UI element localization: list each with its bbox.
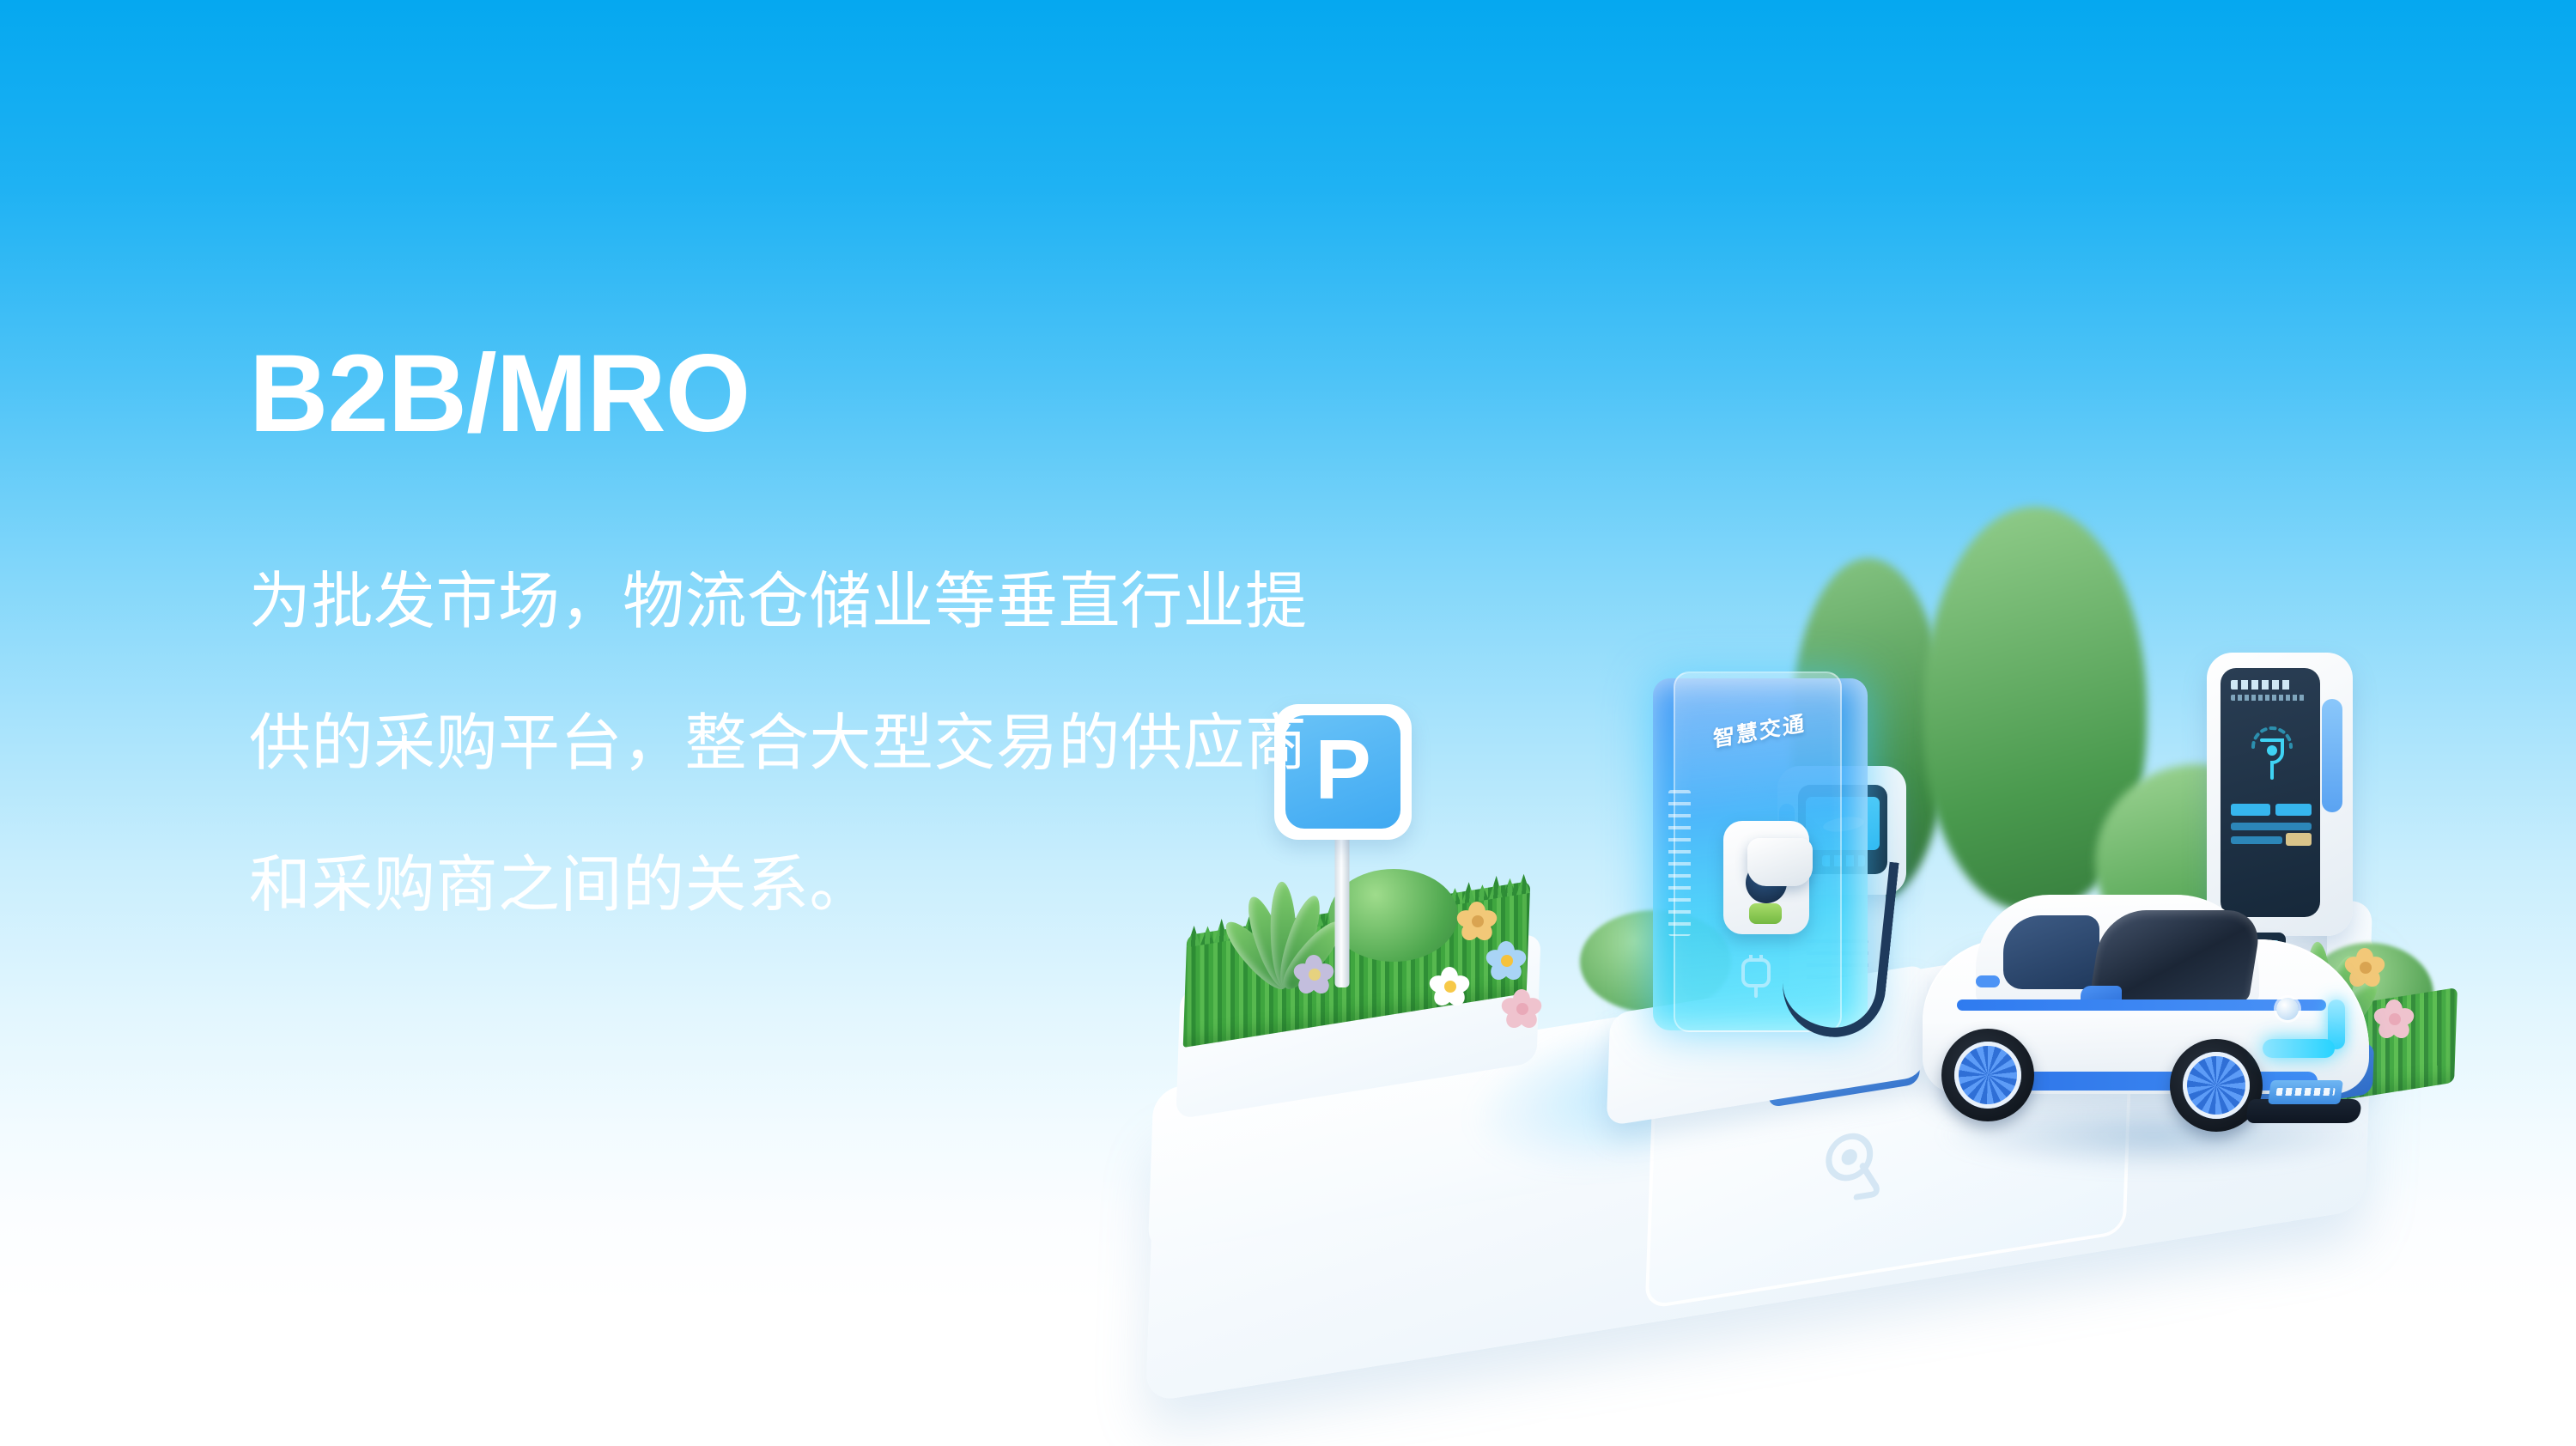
screen-chip bbox=[2286, 833, 2312, 846]
ev-charging-station: 智慧交通 bbox=[1627, 653, 1911, 1133]
flower-icon bbox=[1295, 955, 1333, 993]
page-title: B2B/MRO bbox=[249, 339, 1451, 449]
car-antenna bbox=[1976, 975, 2000, 987]
page-description: 为批发市场，物流仓储业等垂直行业提供的采购平台，整合大型交易的供应商和采购商之间… bbox=[249, 532, 1365, 957]
flower-icon bbox=[1458, 902, 1496, 939]
promo-banner: B2B/MRO 为批发市场，物流仓储业等垂直行业提供的采购平台，整合大型交易的供… bbox=[0, 0, 2576, 1446]
car-emblem bbox=[2276, 998, 2299, 1020]
copy-block: B2B/MRO 为批发市场，物流仓储业等垂直行业提供的采购平台，整合大型交易的供… bbox=[249, 339, 1451, 957]
screen-subtitle-bars bbox=[2231, 695, 2305, 701]
charging-plug-icon bbox=[1820, 1121, 1898, 1210]
screen-bar bbox=[2231, 823, 2312, 830]
screen-bar bbox=[2231, 836, 2282, 844]
electric-car bbox=[1893, 886, 2409, 1178]
car-headlight bbox=[2263, 1039, 2335, 1058]
kiosk-screen bbox=[2221, 668, 2320, 917]
charging-plug-icon bbox=[1737, 955, 1775, 998]
charging-plug-icon bbox=[2241, 721, 2303, 787]
screen-title-bars bbox=[2231, 680, 2291, 690]
kiosk-side-light bbox=[2322, 699, 2342, 812]
car-wheel bbox=[1941, 1029, 2034, 1121]
charging-plug bbox=[1747, 838, 1813, 886]
charger-level-gauge bbox=[1668, 790, 1691, 936]
car-license-plate bbox=[2268, 1080, 2343, 1104]
car-beltline bbox=[1957, 999, 2326, 1011]
screen-bar bbox=[2231, 804, 2270, 816]
flower-icon bbox=[1487, 941, 1525, 979]
status-led bbox=[1749, 903, 1782, 924]
flower-icon bbox=[1431, 967, 1468, 1005]
screen-bar bbox=[2275, 804, 2312, 816]
car-side-window bbox=[2003, 915, 2099, 989]
flower-icon bbox=[1503, 989, 1540, 1027]
